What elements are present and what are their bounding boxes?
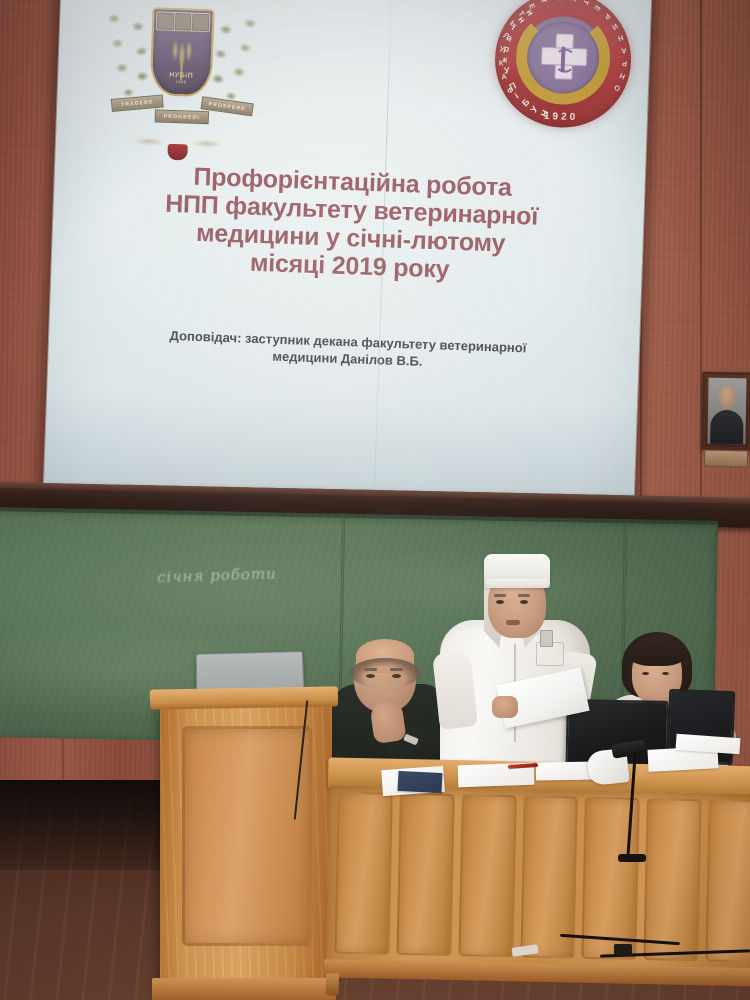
hand [492, 696, 518, 718]
table-front [326, 785, 750, 970]
lectern-base [152, 978, 336, 1000]
name-badge [540, 630, 553, 647]
emblem-shield: НУБіП 1898 [150, 7, 215, 97]
eye [642, 672, 649, 675]
projection-screen: НАЦІОНАЛЬНИЙ УНІВЕРСИТЕТ БІОРЕСУРСІВ І П… [43, 0, 651, 526]
folder [398, 771, 443, 793]
table-leg [326, 973, 339, 995]
motto-center: PROGREDI [155, 109, 209, 124]
slide-title: Профорієнтаційна робота НПП факультету в… [75, 159, 627, 290]
hair-fringe [628, 640, 686, 666]
portrait-image [707, 378, 746, 445]
mouth [506, 620, 520, 625]
eye [496, 600, 504, 604]
table-panel [334, 792, 392, 955]
slide: НАЦІОНАЛЬНИЙ УНІВЕРСИТЕТ БІОРЕСУРСІВ І П… [43, 0, 651, 526]
eyebrow [518, 594, 530, 597]
faculty-logo: Ф А К У Л Ь Т Е Т В Е Т Е Р И [493, 0, 634, 130]
eye [520, 600, 528, 604]
eyebrow [390, 668, 403, 671]
shield-chief [156, 11, 211, 32]
eye [366, 674, 375, 678]
chief-charge [192, 14, 209, 32]
lectern-panel [182, 726, 312, 946]
power-plug [614, 944, 632, 956]
presentation-photo: НАЦІОНАЛЬНИЙ УНІВЕРСИТЕТ БІОРЕСУРСІВ І П… [0, 0, 750, 1000]
shield-abbr: НУБіП 1898 [152, 71, 210, 85]
medical-cap [484, 554, 550, 588]
portrait-nameplate [704, 450, 748, 468]
screen-surface: НАЦІОНАЛЬНИЙ УНІВЕРСИТЕТ БІОРЕСУРСІВ І П… [43, 0, 651, 526]
framed-portrait [701, 372, 750, 451]
microphone-base [618, 854, 646, 862]
shield-year: 1898 [152, 78, 210, 85]
slide-subtitle: Доповідач: заступник декана факультету в… [78, 325, 617, 377]
table-panel-row [334, 792, 750, 963]
table-panel [644, 798, 702, 961]
lectern-top [150, 686, 338, 709]
chief-charge [157, 12, 174, 30]
university-emblem: НАЦІОНАЛЬНИЙ УНІВЕРСИТЕТ БІОРЕСУРСІВ І П… [107, 0, 253, 163]
left-arm [432, 650, 478, 730]
table-panel [706, 799, 750, 962]
eye [392, 674, 401, 678]
eyebrow [364, 668, 377, 671]
table-panel [458, 794, 516, 957]
table-panel [396, 793, 454, 956]
lectern [160, 700, 332, 1000]
eye [662, 672, 669, 675]
hair [350, 658, 420, 688]
chief-charge [175, 13, 192, 31]
eyebrow [494, 594, 506, 597]
